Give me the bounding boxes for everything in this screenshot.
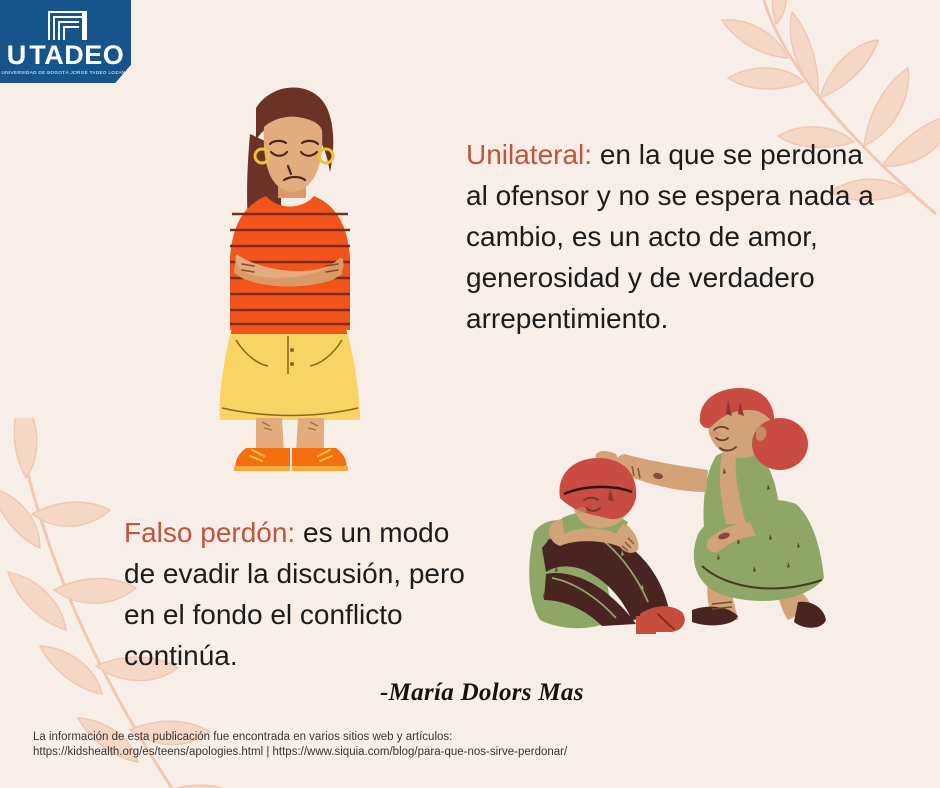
logo-wordmark: UTADEO xyxy=(0,42,131,69)
illustration-girl-arms-crossed xyxy=(206,68,371,478)
logo-wordmark-rest: TADEO xyxy=(29,40,124,70)
paragraph-falso-perdon: Falso perdón: es un modo de evadir la di… xyxy=(124,512,476,676)
poster-canvas: UTADEO UNIVERSIDAD DE BOGOTÁ JORGE TADEO… xyxy=(0,0,940,788)
paragraph-unilateral: Unilateral: en la que se perdona al ofen… xyxy=(466,134,886,339)
logo-wordmark-u: U xyxy=(7,40,30,70)
logo-book-icon xyxy=(46,9,90,42)
quote-attribution: -María Dolors Mas xyxy=(380,679,584,707)
illustration-comforting-pair xyxy=(512,388,842,638)
logo-tagline: UNIVERSIDAD DE BOGOTÁ JORGE TADEO LOZANO xyxy=(0,70,131,75)
ponytail xyxy=(752,418,808,470)
paragraph-unilateral-lead: Unilateral: xyxy=(466,139,592,170)
paragraph-falso-perdon-lead: Falso perdón: xyxy=(124,517,295,548)
source-footnote: La información de esta publicación fue e… xyxy=(33,730,567,760)
dark-shoe-back xyxy=(794,602,826,628)
utadeo-logo: UTADEO UNIVERSIDAD DE BOGOTÁ JORGE TADEO… xyxy=(0,0,131,83)
